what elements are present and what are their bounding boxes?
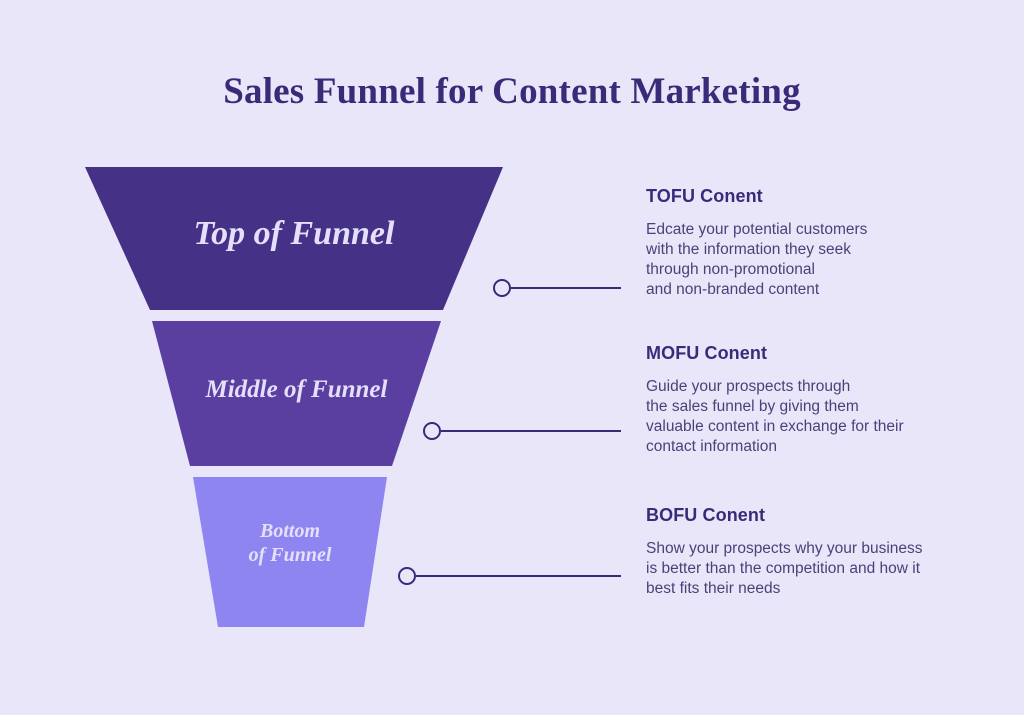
connector-line (511, 287, 621, 289)
connector-mofu (423, 420, 621, 442)
detail-body-bofu: Show your prospects why your business is… (646, 539, 986, 599)
connector-line (441, 430, 621, 432)
detail-block-mofu: MOFU Conent Guide your prospects through… (646, 343, 976, 458)
funnel-stage-tofu-label: Top of Funnel (85, 214, 503, 254)
detail-heading-mofu: MOFU Conent (646, 343, 976, 364)
connector-tofu (493, 277, 621, 299)
connector-dot-icon (423, 422, 441, 440)
detail-heading-tofu: TOFU Conent (646, 186, 976, 207)
funnel-stage-mofu-label: Middle of Funnel (152, 375, 441, 405)
detail-body-mofu: Guide your prospects through the sales f… (646, 377, 976, 458)
infographic-canvas: Sales Funnel for Content Marketing Top o… (0, 0, 1024, 715)
connector-line (416, 575, 621, 577)
connector-bofu (398, 565, 621, 587)
detail-block-tofu: TOFU Conent Edcate your potential custom… (646, 186, 976, 301)
detail-block-bofu: BOFU Conent Show your prospects why your… (646, 505, 986, 599)
detail-heading-bofu: BOFU Conent (646, 505, 986, 526)
connector-dot-icon (493, 279, 511, 297)
connector-dot-icon (398, 567, 416, 585)
detail-body-tofu: Edcate your potential customers with the… (646, 220, 976, 301)
funnel-stage-bofu-label: Bottom of Funnel (193, 520, 387, 567)
